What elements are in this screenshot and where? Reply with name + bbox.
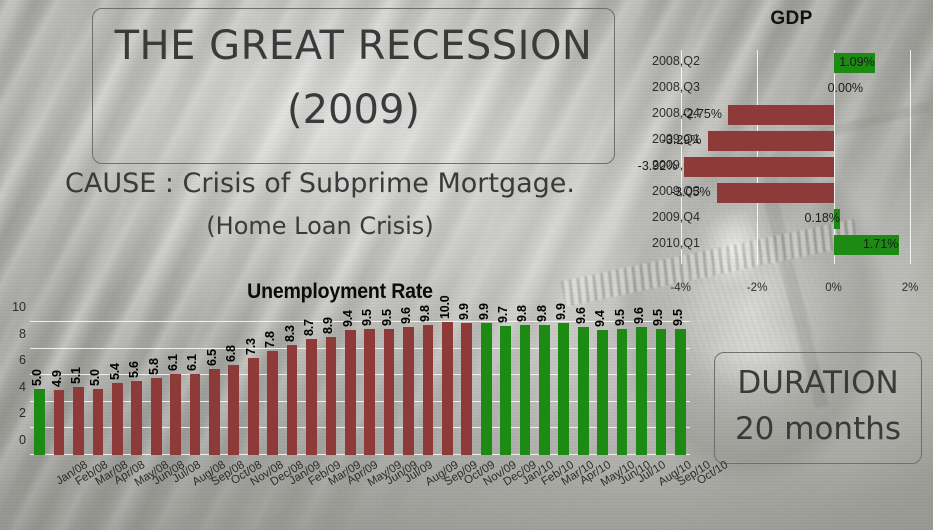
unemployment-bar[interactable] xyxy=(442,322,453,455)
unemployment-bar[interactable] xyxy=(520,325,531,455)
gdp-bar[interactable] xyxy=(684,157,834,177)
unemployment-bar[interactable] xyxy=(578,327,589,455)
unemployment-gridline xyxy=(30,348,690,349)
unemployment-y-tick: 6 xyxy=(2,353,26,367)
unemployment-bar[interactable] xyxy=(131,381,142,455)
unemployment-chart: Unemployment Rate 02468105.04.95.15.05.4… xyxy=(0,280,700,530)
unemployment-bar[interactable] xyxy=(403,327,414,455)
unemployment-bar[interactable] xyxy=(423,325,434,455)
unemployment-chart-title: Unemployment Rate xyxy=(214,280,465,304)
gdp-bar[interactable] xyxy=(717,183,834,203)
gdp-value-label: -2.75% xyxy=(682,107,722,121)
unemployment-value-label: 9.9 xyxy=(457,304,471,321)
unemployment-value-label: 9.4 xyxy=(593,310,607,327)
gdp-value-label: -3.05% xyxy=(671,185,711,199)
unemployment-value-label: 9.5 xyxy=(651,309,665,326)
gdp-axis-tick: 2% xyxy=(902,282,919,294)
unemployment-value-label: 5.1 xyxy=(69,367,83,384)
unemployment-bar[interactable] xyxy=(617,329,628,455)
unemployment-value-label: 6.1 xyxy=(166,354,180,371)
unemployment-bar[interactable] xyxy=(326,337,337,455)
gdp-category-label: 2010,Q1 xyxy=(652,236,718,250)
gdp-bar[interactable] xyxy=(708,131,834,151)
unemployment-bar[interactable] xyxy=(345,330,356,455)
gdp-row[interactable]: 2008,Q21.09% xyxy=(650,50,933,76)
unemployment-plot-area: 02468105.04.95.15.05.45.65.86.16.16.56.8… xyxy=(30,322,690,455)
unemployment-value-label: 9.4 xyxy=(341,310,355,327)
unemployment-bar[interactable] xyxy=(558,323,569,455)
unemployment-value-label: 5.8 xyxy=(147,358,161,375)
gdp-value-label: 1.71% xyxy=(863,237,898,251)
gdp-chart-title: GDP xyxy=(650,8,933,30)
gdp-value-label: -3.92% xyxy=(638,159,678,173)
unemployment-value-label: 9.6 xyxy=(632,308,646,325)
unemployment-y-tick: 4 xyxy=(2,380,26,394)
unemployment-value-label: 7.8 xyxy=(263,331,277,348)
gdp-axis-tick: 0% xyxy=(825,282,842,294)
unemployment-bar[interactable] xyxy=(73,387,84,455)
cause-line-primary: CAUSE : Crisis of Subprime Mortgage. xyxy=(0,168,640,199)
unemployment-value-label: 4.9 xyxy=(50,370,64,387)
unemployment-y-tick: 2 xyxy=(2,406,26,420)
gdp-category-label: 2008,Q2 xyxy=(652,54,718,68)
gdp-row[interactable]: 2009,Q2-3.92% xyxy=(650,154,933,180)
unemployment-bar[interactable] xyxy=(539,325,550,455)
page-title: THE GREAT RECESSION xyxy=(93,23,614,69)
unemployment-bar[interactable] xyxy=(287,345,298,455)
unemployment-value-label: 9.6 xyxy=(574,308,588,325)
gdp-bar[interactable] xyxy=(728,105,833,125)
unemployment-value-label: 9.6 xyxy=(399,308,413,325)
page-subtitle-year: (2009) xyxy=(93,87,614,133)
slide-canvas: THE GREAT RECESSION (2009) CAUSE : Crisi… xyxy=(0,0,933,530)
unemployment-value-label: 8.9 xyxy=(321,317,335,334)
gdp-category-label: 2008,Q3 xyxy=(652,80,718,94)
unemployment-bar[interactable] xyxy=(481,323,492,455)
unemployment-bar[interactable] xyxy=(54,390,65,455)
unemployment-bar[interactable] xyxy=(228,365,239,455)
gdp-axis-tick: -2% xyxy=(747,282,767,294)
duration-box: DURATION 20 months xyxy=(714,352,922,464)
unemployment-value-label: 9.5 xyxy=(613,309,627,326)
unemployment-bar[interactable] xyxy=(461,323,472,455)
unemployment-value-label: 8.3 xyxy=(283,325,297,342)
unemployment-bar[interactable] xyxy=(636,327,647,455)
unemployment-value-label: 9.7 xyxy=(496,306,510,323)
title-box: THE GREAT RECESSION (2009) xyxy=(92,8,615,164)
gdp-value-label: -3.29% xyxy=(662,133,702,147)
unemployment-bar[interactable] xyxy=(93,389,104,456)
unemployment-bar[interactable] xyxy=(675,329,686,455)
unemployment-bar[interactable] xyxy=(500,326,511,455)
unemployment-value-label: 9.8 xyxy=(418,305,432,322)
unemployment-bar[interactable] xyxy=(151,378,162,455)
unemployment-value-label: 9.5 xyxy=(380,309,394,326)
unemployment-bar[interactable] xyxy=(248,358,259,455)
unemployment-bar[interactable] xyxy=(209,369,220,455)
gdp-value-label: 0.18% xyxy=(804,211,839,225)
gdp-chart: GDP 2008,Q21.09%2008,Q30.00%2008,Q4-2.75… xyxy=(650,0,933,305)
unemployment-y-tick: 0 xyxy=(2,433,26,447)
unemployment-value-label: 9.8 xyxy=(535,305,549,322)
unemployment-value-label: 9.8 xyxy=(515,305,529,322)
unemployment-value-label: 9.9 xyxy=(477,304,491,321)
unemployment-value-label: 5.6 xyxy=(127,361,141,378)
unemployment-y-tick: 8 xyxy=(2,327,26,341)
unemployment-bar[interactable] xyxy=(656,329,667,455)
duration-value: 20 months xyxy=(715,411,921,447)
unemployment-value-label: 5.0 xyxy=(30,369,44,386)
unemployment-bar[interactable] xyxy=(384,329,395,455)
unemployment-bar[interactable] xyxy=(364,329,375,455)
unemployment-bar[interactable] xyxy=(190,374,201,455)
gdp-plot-area: 2008,Q21.09%2008,Q30.00%2008,Q4-2.75%200… xyxy=(650,50,933,280)
unemployment-gridline xyxy=(30,454,690,455)
unemployment-value-label: 9.5 xyxy=(360,309,374,326)
gdp-row[interactable]: 2009,Q3-3.05% xyxy=(650,180,933,206)
unemployment-value-label: 9.9 xyxy=(554,304,568,321)
unemployment-bar[interactable] xyxy=(597,330,608,455)
unemployment-gridline xyxy=(30,427,690,428)
unemployment-bar[interactable] xyxy=(112,383,123,455)
unemployment-value-label: 8.7 xyxy=(302,320,316,337)
unemployment-bar[interactable] xyxy=(306,339,317,455)
unemployment-value-label: 10.0 xyxy=(438,295,452,319)
gdp-row[interactable]: 2008,Q30.00% xyxy=(650,76,933,102)
gdp-row[interactable]: 2009,Q40.18% xyxy=(650,206,933,232)
unemployment-gridline xyxy=(30,401,690,402)
unemployment-value-label: 7.3 xyxy=(244,338,258,355)
unemployment-bar[interactable] xyxy=(34,389,45,456)
gdp-value-label: 0.00% xyxy=(828,81,863,95)
unemployment-value-label: 5.4 xyxy=(108,363,122,380)
unemployment-value-label: 5.0 xyxy=(88,369,102,386)
unemployment-y-tick: 10 xyxy=(2,300,26,314)
unemployment-value-label: 6.1 xyxy=(185,354,199,371)
unemployment-value-label: 6.5 xyxy=(205,349,219,366)
gdp-category-label: 2009,Q4 xyxy=(652,210,718,224)
gdp-row[interactable]: 2010,Q11.71% xyxy=(650,232,933,258)
unemployment-value-label: 9.5 xyxy=(671,309,685,326)
duration-label: DURATION xyxy=(715,365,921,401)
cause-line-secondary: (Home Loan Crisis) xyxy=(0,212,640,240)
gdp-row[interactable]: 2009,Q1-3.29% xyxy=(650,128,933,154)
unemployment-bar[interactable] xyxy=(267,351,278,455)
unemployment-bar[interactable] xyxy=(170,374,181,455)
gdp-value-label: 1.09% xyxy=(839,55,874,69)
gdp-row[interactable]: 2008,Q4-2.75% xyxy=(650,102,933,128)
unemployment-value-label: 6.8 xyxy=(224,345,238,362)
